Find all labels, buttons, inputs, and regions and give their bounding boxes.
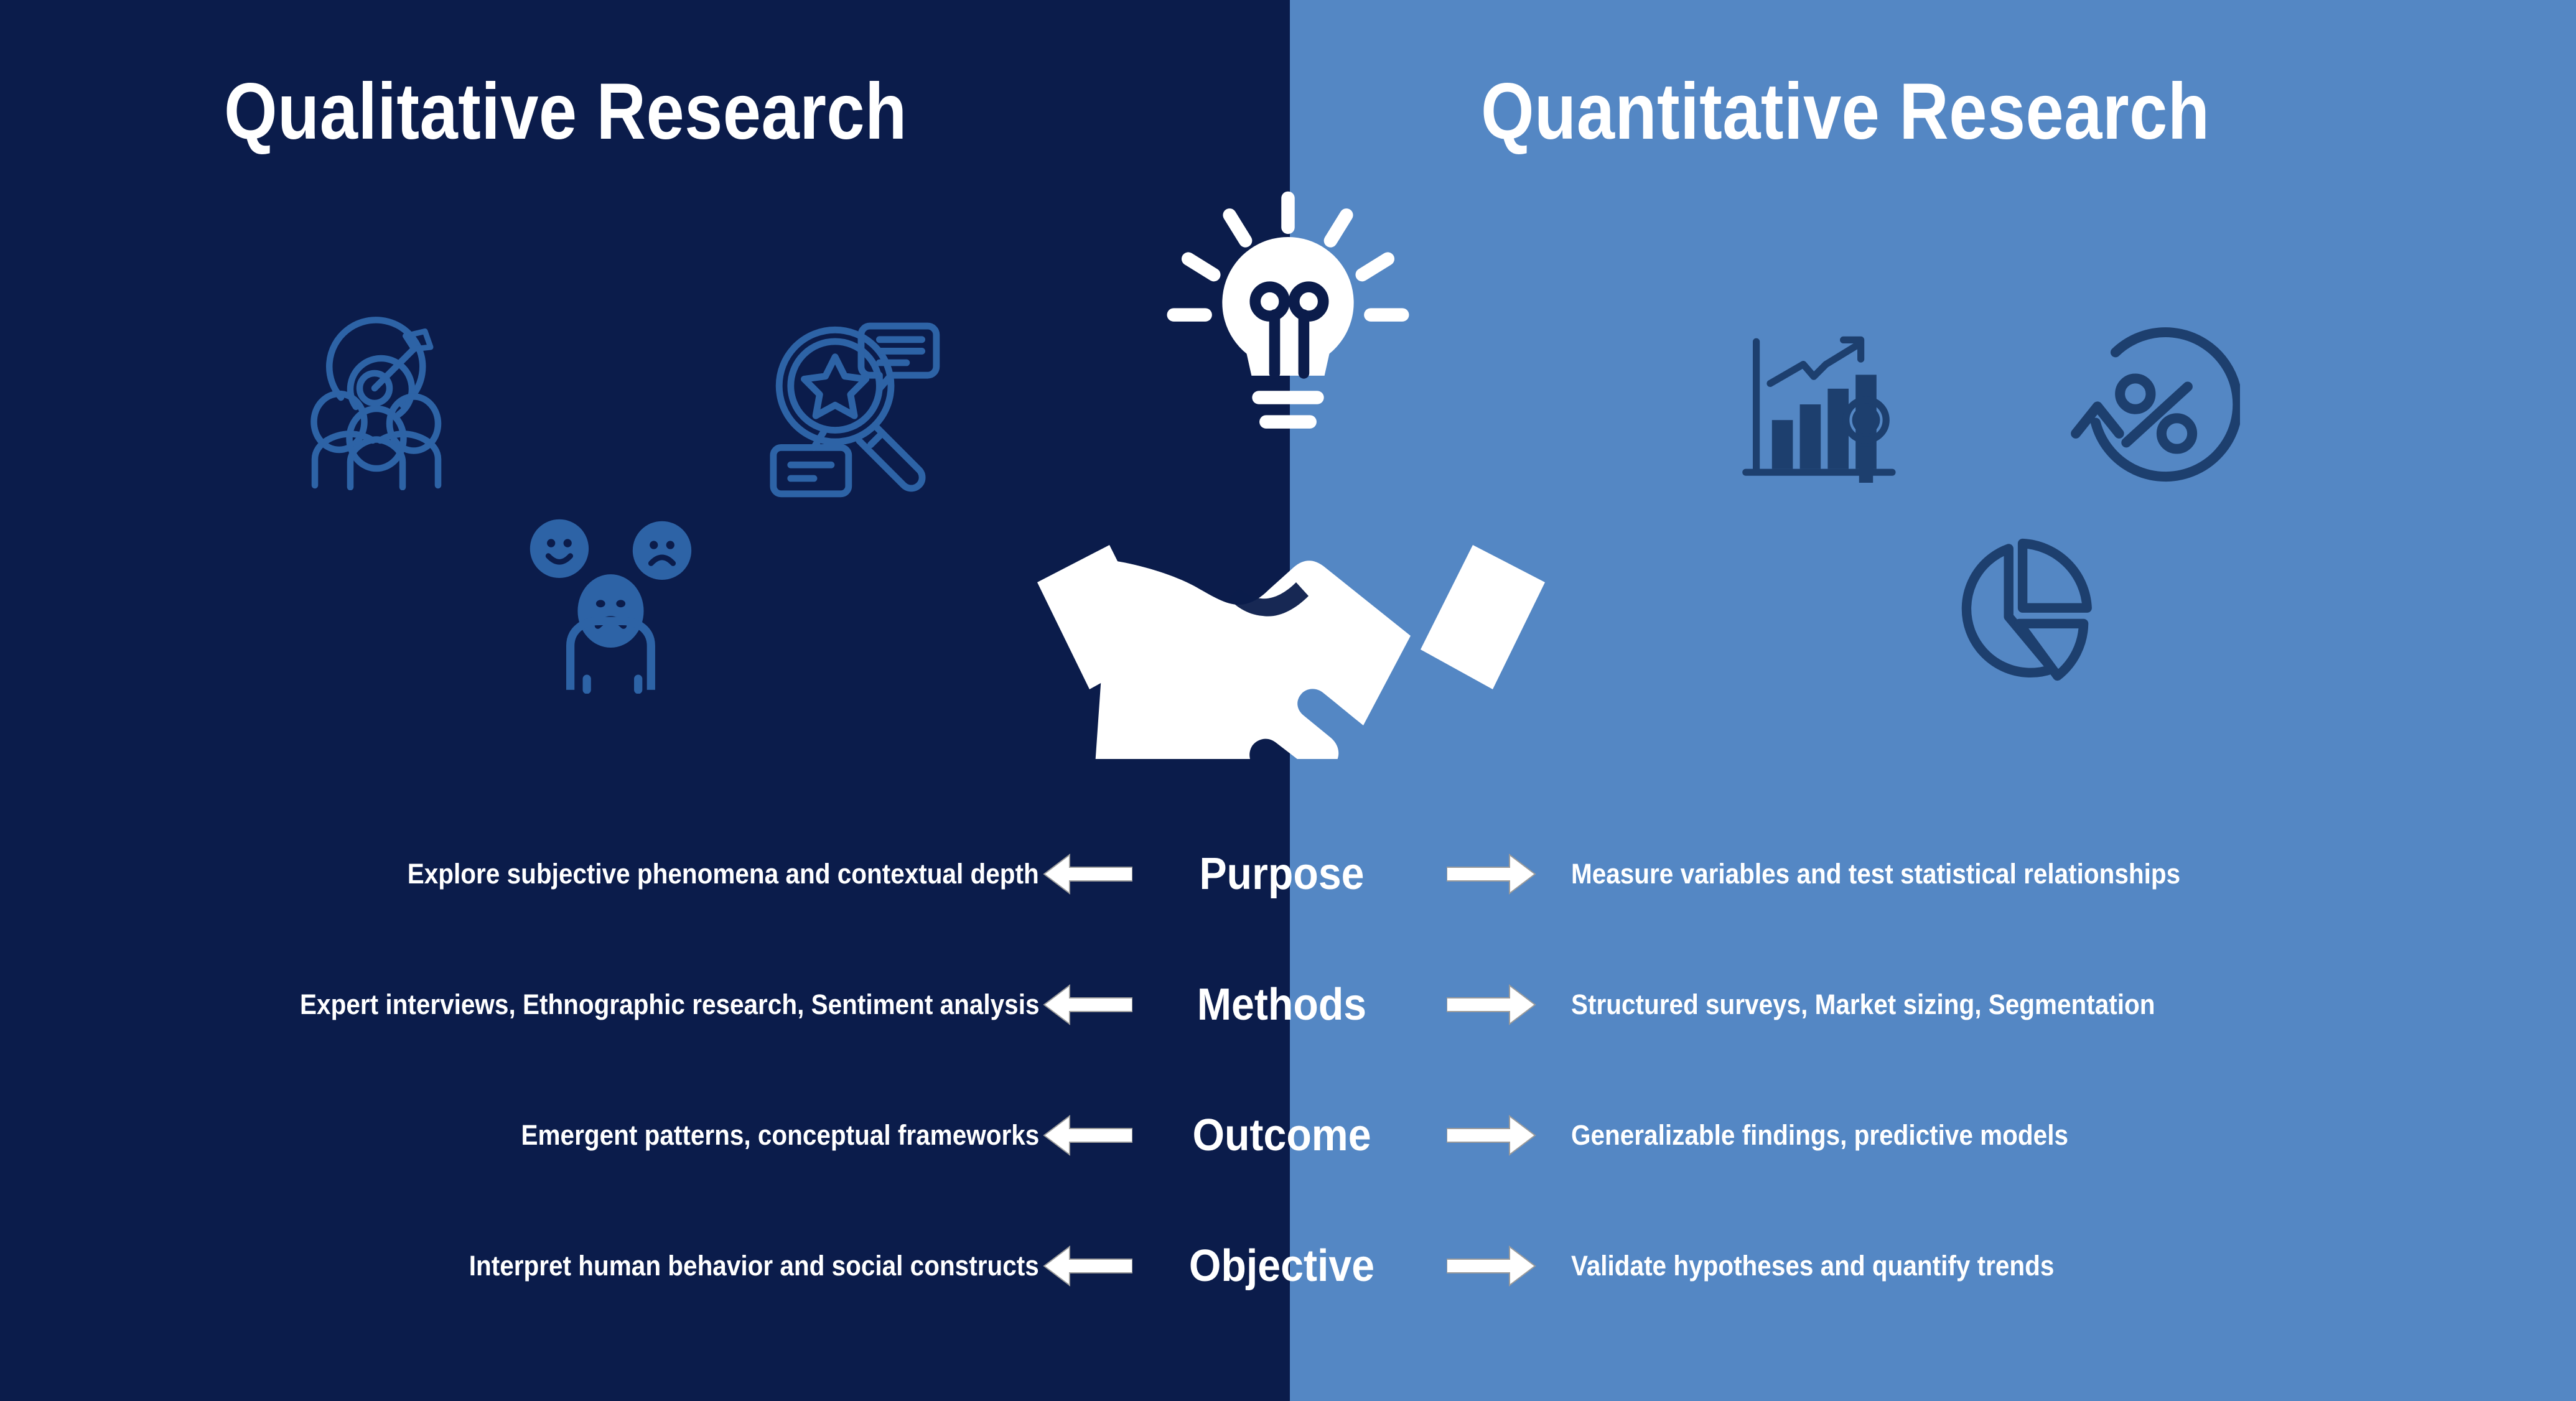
row-right-text: Validate hypotheses and quantify trends — [1571, 1201, 2054, 1331]
comparison-row: Explore subjective phenomena and context… — [0, 809, 2576, 939]
row-right-text: Measure variables and test statistical r… — [1571, 809, 2180, 939]
row-left-text: Explore subjective phenomena and context… — [408, 809, 1039, 939]
bar-chart-growth-icon — [1727, 317, 1901, 485]
row-label: Purpose — [1162, 844, 1402, 904]
row-right-text: Generalizable findings, predictive model… — [1571, 1070, 2068, 1201]
left-column-title: Qualitative Research — [224, 68, 907, 156]
row-label: Objective — [1162, 1236, 1402, 1296]
arrow-right-icon — [1447, 851, 1537, 897]
row-left-text: Interpret human behavior and social cons… — [469, 1201, 1039, 1331]
sentiment-faces-icon — [523, 510, 697, 697]
comparison-row: Interpret human behavior and social cons… — [0, 1201, 2576, 1331]
arrow-right-icon — [1447, 1243, 1537, 1289]
arrow-left-icon — [1042, 982, 1132, 1028]
arrow-right-icon — [1447, 982, 1537, 1028]
arrow-left-icon — [1042, 1112, 1132, 1158]
handshake-icon — [1030, 435, 1552, 759]
comparison-row: Emergent patterns, conceptual frameworks… — [0, 1070, 2576, 1201]
review-search-icon — [756, 305, 949, 498]
lightbulb-idea-icon — [1154, 184, 1422, 451]
right-column-title: Quantitative Research — [1481, 68, 2210, 156]
target-audience-icon — [283, 308, 470, 488]
row-left-text: Emergent patterns, conceptual frameworks — [521, 1070, 1039, 1201]
comparison-infographic: Qualitative Research Quantitative Resear… — [0, 0, 2576, 1401]
pie-chart-icon — [1932, 523, 2106, 697]
arrow-left-icon — [1042, 851, 1132, 897]
row-left-text: Expert interviews, Ethnographic research… — [300, 939, 1039, 1070]
row-right-text: Structured surveys, Market sizing, Segme… — [1571, 939, 2155, 1070]
comparison-row: Expert interviews, Ethnographic research… — [0, 939, 2576, 1070]
arrow-right-icon — [1447, 1112, 1537, 1158]
percentage-cycle-icon — [2060, 323, 2240, 495]
arrow-left-icon — [1042, 1243, 1132, 1289]
row-label: Outcome — [1162, 1105, 1402, 1165]
row-label: Methods — [1162, 975, 1402, 1035]
comparison-rows: Explore subjective phenomena and context… — [0, 809, 2576, 1331]
